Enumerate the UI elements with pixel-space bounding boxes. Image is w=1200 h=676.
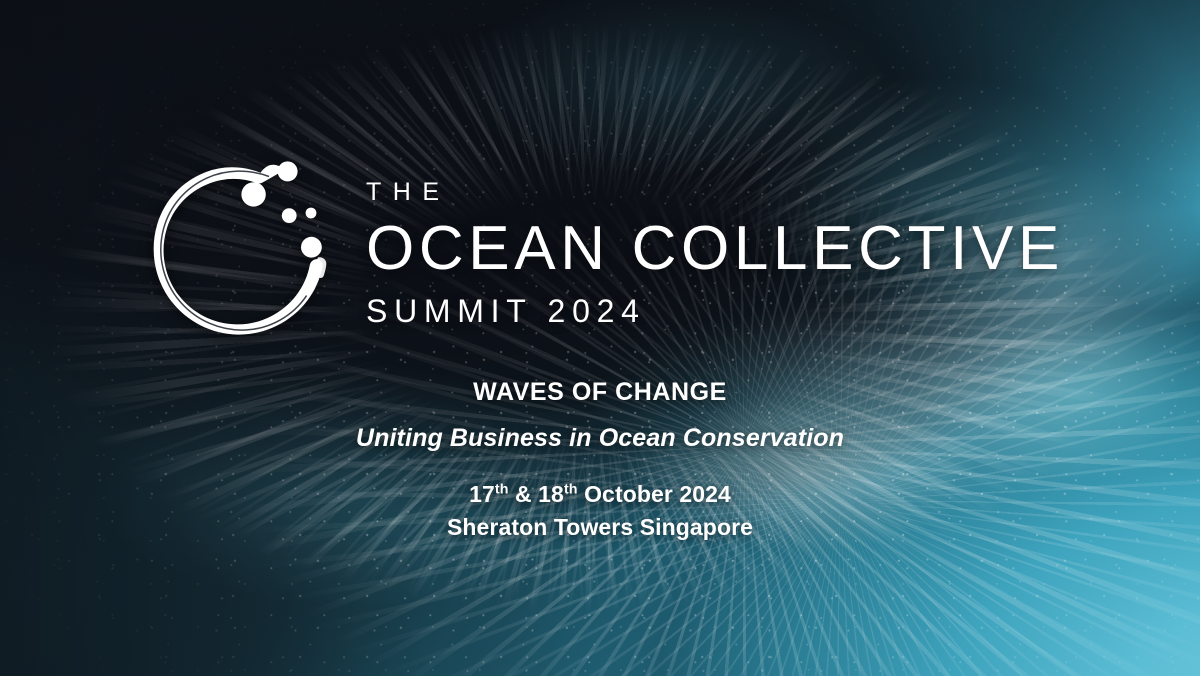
event-venue: Sheraton Towers Singapore <box>0 511 1200 544</box>
event-banner: THE OCEAN COLLECTIVE SUMMIT 2024 WAVES O… <box>0 0 1200 676</box>
wordmark-line-the: THE <box>366 180 1072 205</box>
tagline-headline: WAVES OF CHANGE <box>0 378 1200 406</box>
event-date-day1-ordinal: th <box>495 481 509 497</box>
event-date-month-year: October 2024 <box>578 481 731 507</box>
event-date-day2-ordinal: th <box>564 481 578 497</box>
event-date: 17th & 18th October 2024 <box>0 478 1200 511</box>
event-date-day2: 18 <box>538 481 564 507</box>
wordmark-line-summit-year: SUMMIT 2024 <box>366 295 1072 327</box>
event-tagline: WAVES OF CHANGE Uniting Business in Ocea… <box>0 378 1200 452</box>
event-date-day1: 17 <box>469 481 495 507</box>
tagline-subheadline: Uniting Business in Ocean Conservation <box>0 424 1200 452</box>
wordmark: THE OCEAN COLLECTIVE SUMMIT 2024 <box>366 180 1072 327</box>
ocean-ring-bubbles-logo <box>142 156 352 352</box>
event-details: 17th & 18th October 2024 Sheraton Towers… <box>0 478 1200 543</box>
event-date-separator: & <box>509 481 539 507</box>
wordmark-line-ocean-collective: OCEAN COLLECTIVE <box>366 218 1072 280</box>
